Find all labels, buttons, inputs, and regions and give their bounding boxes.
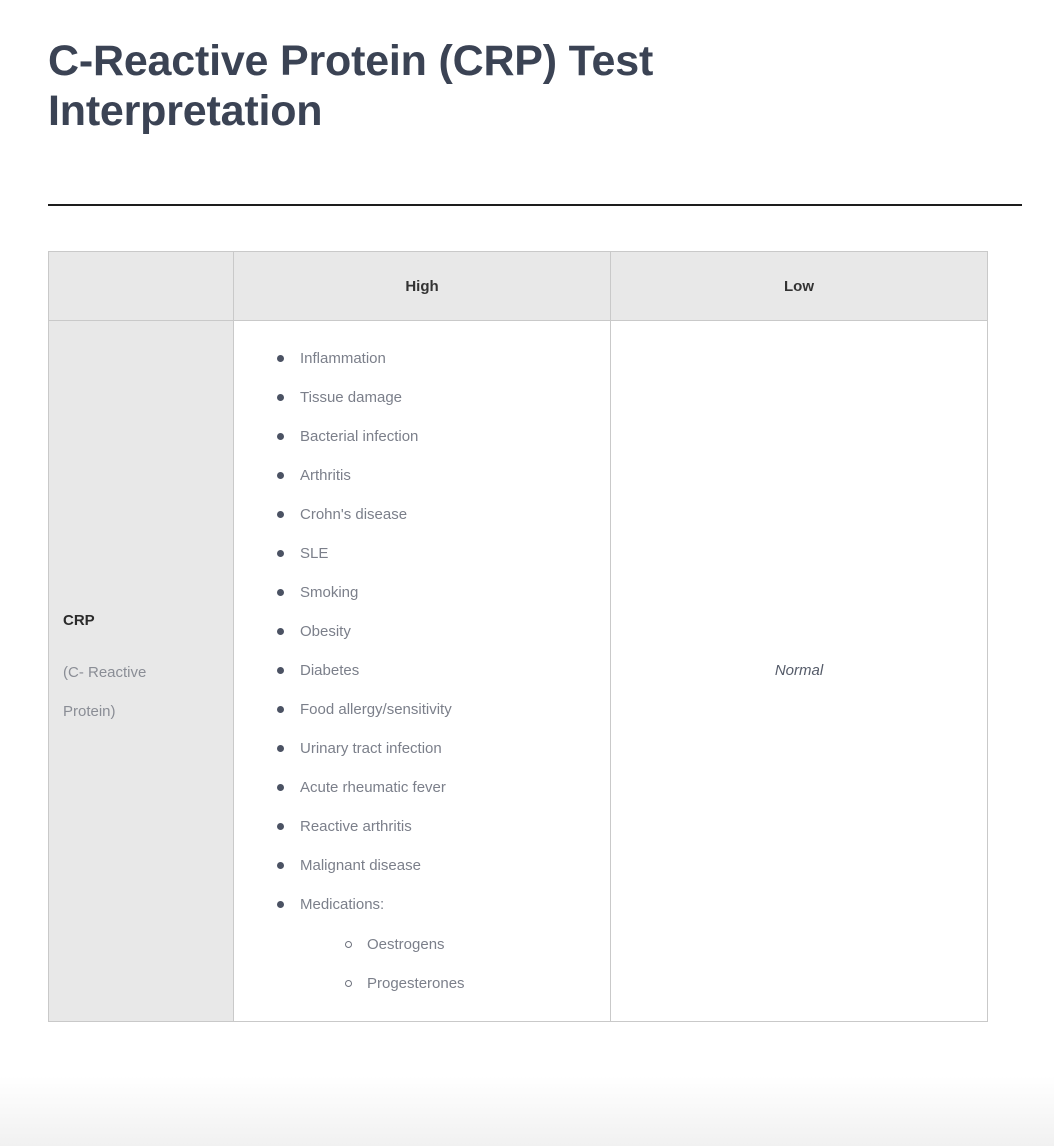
sub-list-item-label: Oestrogens <box>367 936 445 953</box>
bullet-dot-icon <box>277 394 284 401</box>
list-item: Tissue damage <box>267 388 596 407</box>
list-item: Obesity <box>267 622 596 641</box>
low-value-text: Normal <box>775 662 823 679</box>
page-bottom-fade <box>0 1076 1054 1146</box>
list-item-label: Acute rheumatic fever <box>300 779 446 796</box>
bullet-dot-icon <box>277 745 284 752</box>
low-value-cell: Normal <box>611 321 988 1022</box>
list-item-label: Reactive arthritis <box>300 818 412 835</box>
list-item-label: Smoking <box>300 584 358 601</box>
analyte-fullname-line2: Protein) <box>63 692 219 731</box>
sub-list-item: Progesterones <box>334 974 596 993</box>
bullet-ring-icon <box>345 941 352 948</box>
table-header-row: High Low <box>49 252 988 321</box>
analyte-fullname-line1: (C- Reactive <box>63 653 219 692</box>
bullet-dot-icon <box>277 355 284 362</box>
bullet-ring-icon <box>345 980 352 987</box>
bullet-dot-icon <box>277 823 284 830</box>
table-body: CRP (C- Reactive Protein) InflammationTi… <box>49 321 988 1022</box>
page-root: C-Reactive Protein (CRP) Test Interpreta… <box>0 0 1054 1146</box>
medications-sub-list: OestrogensProgesterones <box>300 935 596 993</box>
list-item-label: Medications: <box>300 896 384 913</box>
list-item-label: Obesity <box>300 623 351 640</box>
list-item: Smoking <box>267 583 596 602</box>
list-item: Arthritis <box>267 466 596 485</box>
list-item-label: SLE <box>300 545 328 562</box>
row-label-cell: CRP (C- Reactive Protein) <box>49 321 234 1022</box>
crp-interpretation-table: High Low CRP (C- Reactive Protein) Infla… <box>48 251 988 1022</box>
list-item-label: Arthritis <box>300 467 351 484</box>
list-item: Inflammation <box>267 349 596 368</box>
page-title: C-Reactive Protein (CRP) Test Interpreta… <box>48 36 828 136</box>
bullet-dot-icon <box>277 433 284 440</box>
column-header-blank <box>49 252 234 321</box>
list-item: Diabetes <box>267 661 596 680</box>
title-divider <box>48 204 1022 206</box>
list-item: Crohn's disease <box>267 505 596 524</box>
bullet-dot-icon <box>277 472 284 479</box>
bullet-dot-icon <box>277 901 284 908</box>
list-item: Medications:OestrogensProgesterones <box>267 895 596 993</box>
bullet-dot-icon <box>277 628 284 635</box>
list-item-label: Diabetes <box>300 662 359 679</box>
column-header-high: High <box>234 252 611 321</box>
list-item: Food allergy/sensitivity <box>267 700 596 719</box>
table-row: CRP (C- Reactive Protein) InflammationTi… <box>49 321 988 1022</box>
high-causes-cell: InflammationTissue damageBacterial infec… <box>234 321 611 1022</box>
list-item: Malignant disease <box>267 856 596 875</box>
list-item-label: Bacterial infection <box>300 428 418 445</box>
list-item-label: Urinary tract infection <box>300 740 442 757</box>
list-item: Reactive arthritis <box>267 817 596 836</box>
list-item-label: Malignant disease <box>300 857 421 874</box>
bullet-dot-icon <box>277 784 284 791</box>
bullet-dot-icon <box>277 589 284 596</box>
bullet-dot-icon <box>277 511 284 518</box>
analyte-name: CRP <box>63 611 219 631</box>
column-header-low: Low <box>611 252 988 321</box>
list-item: Acute rheumatic fever <box>267 778 596 797</box>
bullet-dot-icon <box>277 667 284 674</box>
list-item: Bacterial infection <box>267 427 596 446</box>
list-item-label: Food allergy/sensitivity <box>300 701 452 718</box>
table-header: High Low <box>49 252 988 321</box>
sub-list-item-label: Progesterones <box>367 975 465 992</box>
list-item-label: Inflammation <box>300 350 386 367</box>
list-item-label: Crohn's disease <box>300 506 407 523</box>
high-causes-list: InflammationTissue damageBacterial infec… <box>248 349 596 993</box>
bullet-dot-icon <box>277 706 284 713</box>
list-item: SLE <box>267 544 596 563</box>
list-item-label: Tissue damage <box>300 389 402 406</box>
bullet-dot-icon <box>277 862 284 869</box>
sub-list-item: Oestrogens <box>334 935 596 954</box>
list-item: Urinary tract infection <box>267 739 596 758</box>
bullet-dot-icon <box>277 550 284 557</box>
